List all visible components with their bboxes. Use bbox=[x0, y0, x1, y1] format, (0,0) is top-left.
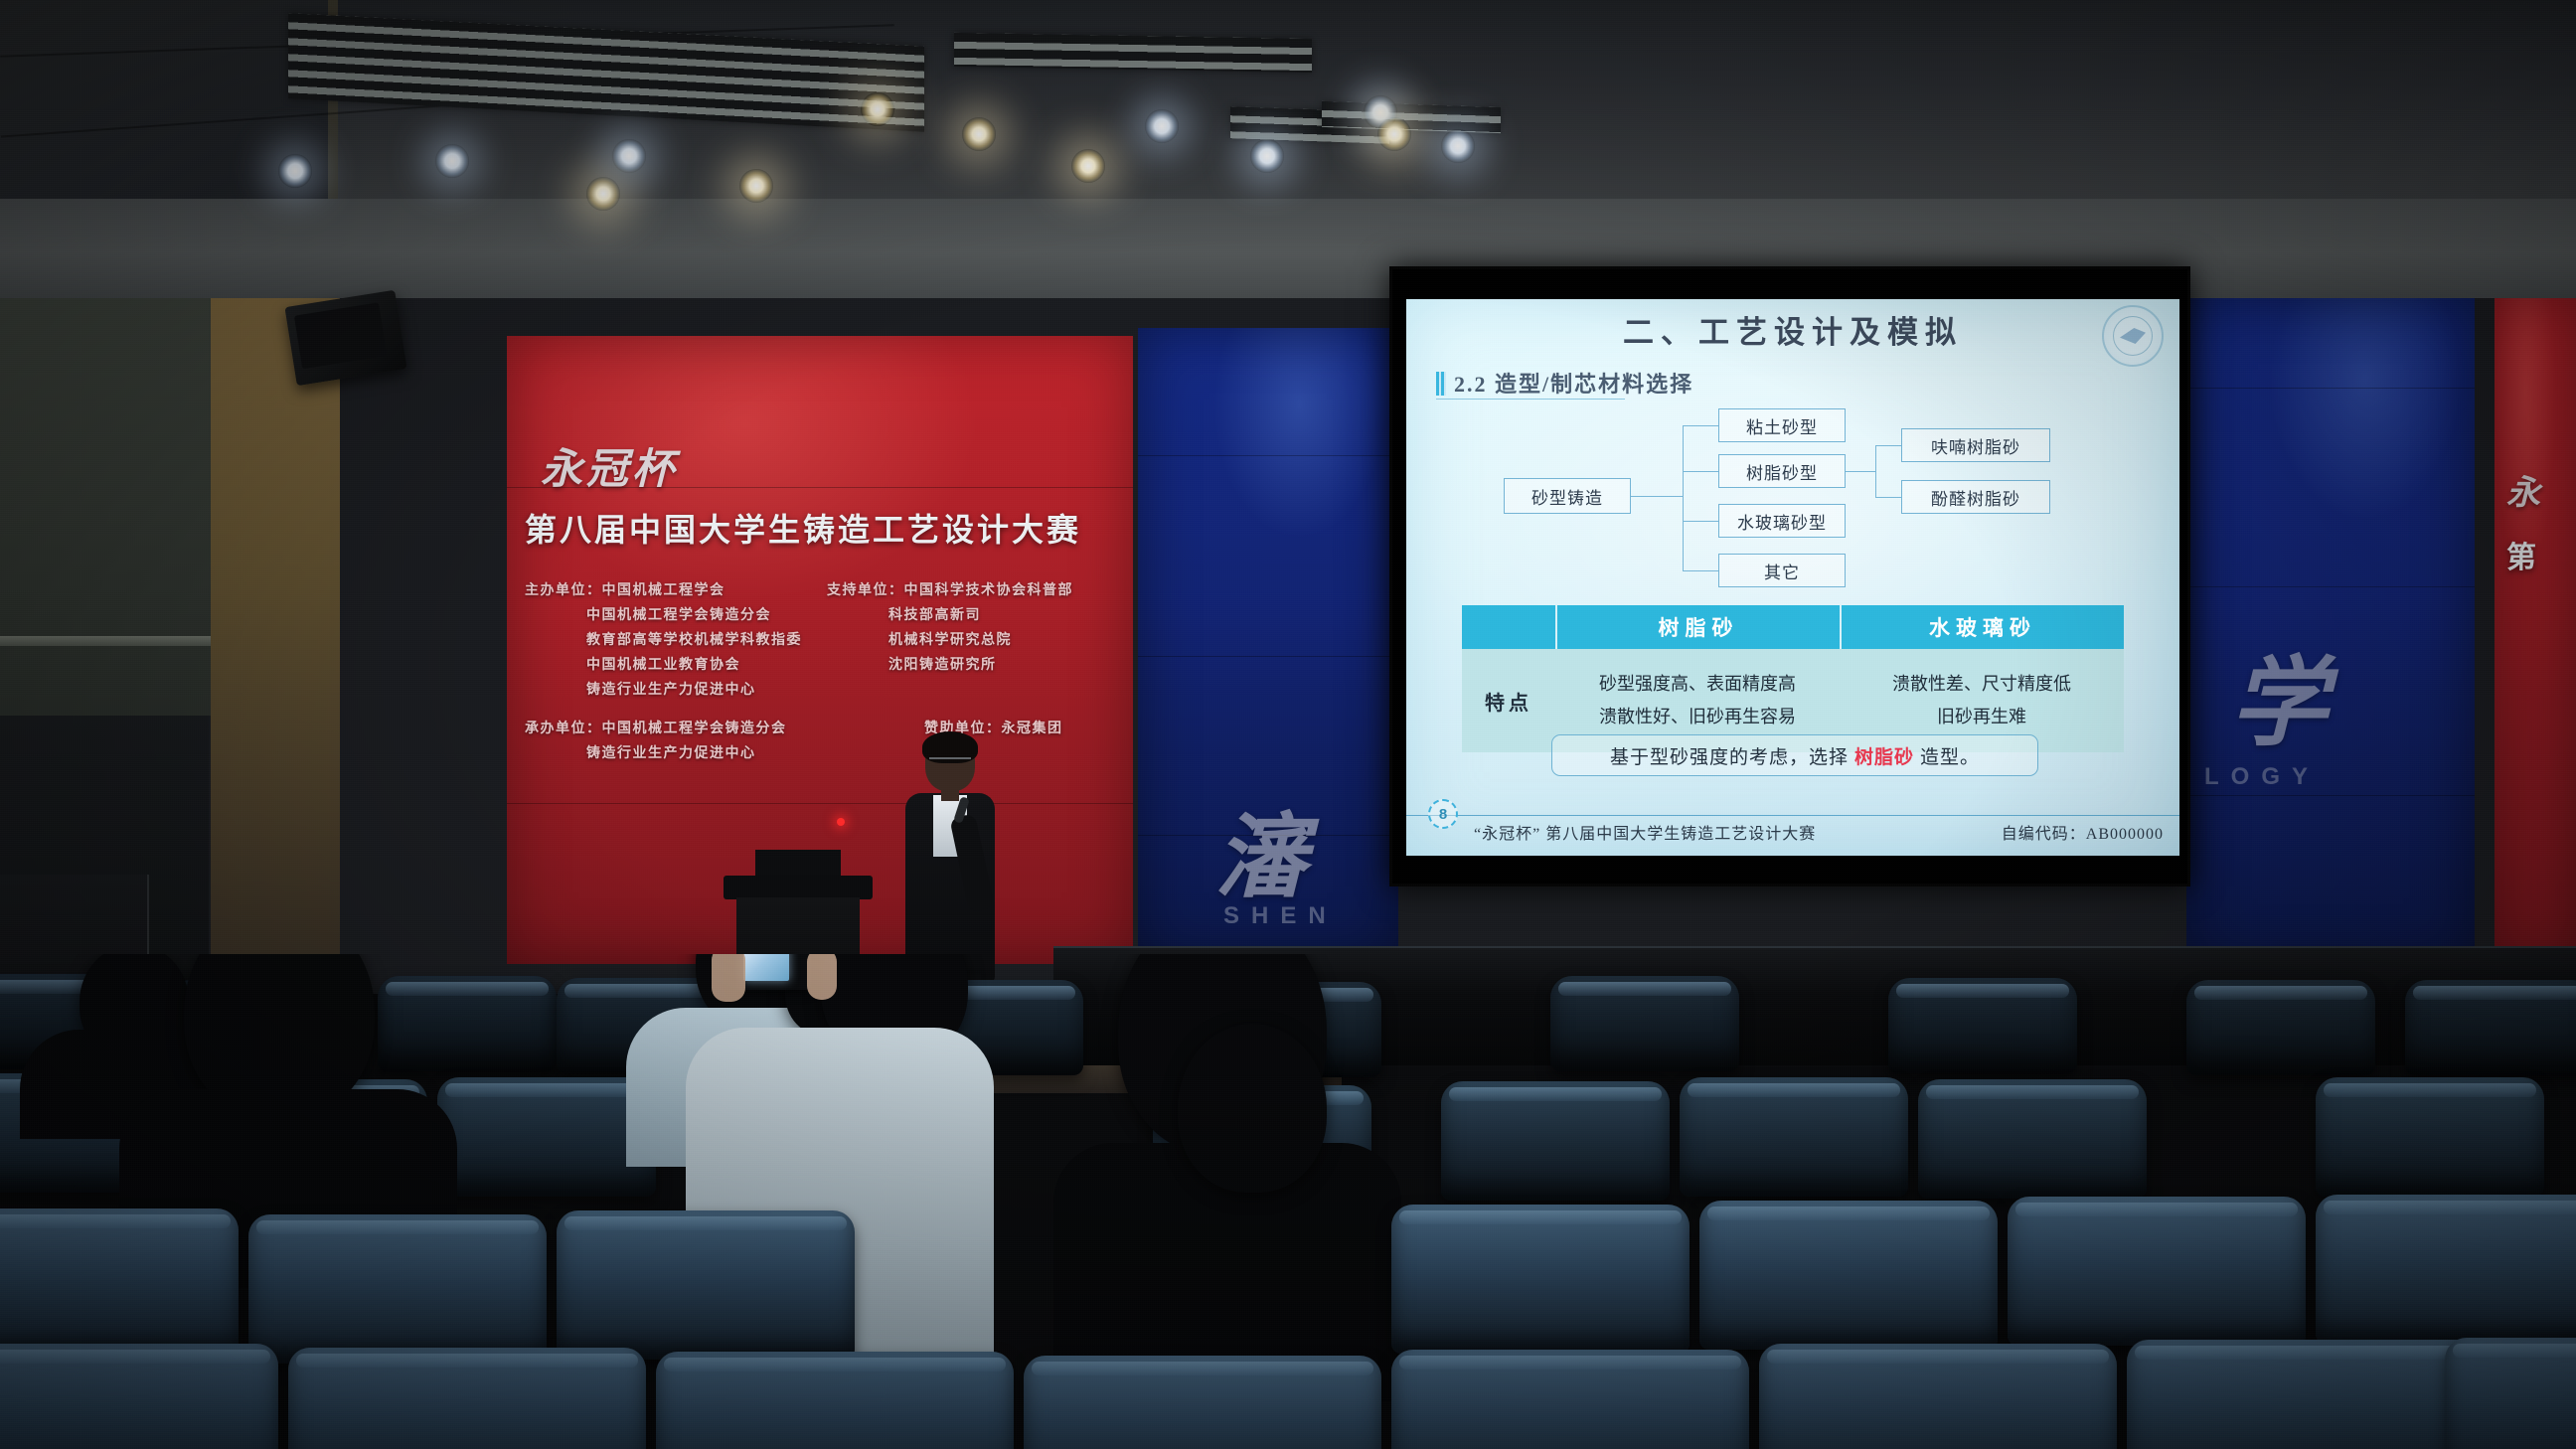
ceiling-light bbox=[1250, 139, 1284, 173]
lectern-top bbox=[724, 876, 873, 899]
host-bottom-line: 铸造行业生产力促进中心 bbox=[525, 742, 787, 762]
audience-head bbox=[1178, 1024, 1327, 1193]
ceiling-light bbox=[962, 117, 996, 151]
red-banner-right: 永 第 bbox=[2495, 298, 2576, 970]
ceiling-light bbox=[1377, 117, 1411, 151]
seat[interactable] bbox=[2405, 980, 2576, 1075]
organizer-left-line: 中国机械工业教育协会 bbox=[525, 654, 802, 674]
seat[interactable] bbox=[1550, 976, 1739, 1071]
glasses-icon bbox=[929, 757, 971, 764]
section-underline bbox=[1436, 399, 1625, 400]
ceiling-light bbox=[1145, 109, 1179, 143]
flowchart: 砂型铸造 粘土砂型 树脂砂型 水玻璃砂型 其它 呋喃树脂砂 酚醛树脂砂 bbox=[1448, 406, 2144, 593]
laser-pointer-dot bbox=[837, 818, 845, 826]
organizer-left-line: 主办单位：中国机械工程学会 bbox=[525, 579, 802, 599]
ceiling-light bbox=[739, 169, 773, 203]
blue-banner-left: 瀋 SHEN bbox=[1138, 328, 1398, 964]
flow-node-level1: 树脂砂型 bbox=[1718, 454, 1846, 488]
conclusion-highlight: 树脂砂 bbox=[1854, 742, 1914, 769]
seat[interactable] bbox=[1391, 1350, 1749, 1449]
banner-calligraphy: 永冠杯 bbox=[541, 435, 678, 496]
seat[interactable] bbox=[288, 1348, 646, 1449]
table-column-header: 水玻璃砂 bbox=[1840, 605, 2124, 649]
blue-banner-right: 学 LOGY bbox=[2186, 298, 2475, 970]
slide-footer-rule bbox=[1406, 815, 2179, 816]
organizer-right-line: 机械科学研究总院 bbox=[827, 629, 1073, 649]
blue-banner-calligraphy: 瀋 bbox=[1215, 783, 1307, 915]
seat[interactable] bbox=[2186, 980, 2375, 1075]
organizer-left-line: 教育部高等学校机械学科教指委 bbox=[525, 629, 802, 649]
camera-lcd-screen bbox=[743, 954, 789, 981]
seat[interactable] bbox=[0, 1344, 278, 1449]
slide-section-heading: 2.2 造型/制芯材料选择 bbox=[1436, 367, 1693, 399]
organizer-right-line: 科技部高新司 bbox=[827, 604, 1073, 624]
seat[interactable] bbox=[1024, 1356, 1381, 1449]
flow-line bbox=[1683, 471, 1718, 472]
flow-node-level1: 其它 bbox=[1718, 554, 1846, 587]
ceiling-light bbox=[612, 139, 646, 173]
flow-node-level1: 水玻璃砂型 bbox=[1718, 504, 1846, 538]
table-header-row: 树脂砂 水玻璃砂 bbox=[1462, 605, 2124, 649]
audience-camera[interactable] bbox=[735, 954, 811, 990]
ceiling-vent bbox=[954, 33, 1312, 73]
red-banner-right-title: 第 bbox=[2506, 533, 2539, 576]
blue-banner-latin: SHEN bbox=[1223, 902, 1338, 930]
slide-footer-code: 自编代码：AB000000 bbox=[2002, 820, 2164, 844]
flow-line bbox=[1875, 445, 1876, 497]
flow-line bbox=[1683, 521, 1718, 522]
flow-line bbox=[1683, 425, 1718, 426]
blue-banner-calligraphy: 学 bbox=[2230, 624, 2328, 765]
seat[interactable] bbox=[1391, 1205, 1690, 1354]
seat[interactable] bbox=[1888, 978, 2077, 1073]
organizer-right-column: 支持单位：中国科学技术协会科普部 科技部高新司 机械科学研究总院 沈阳铸造研究所 bbox=[827, 579, 1073, 679]
organizer-left-line: 中国机械工程学会铸造分会 bbox=[525, 604, 802, 624]
ceiling-light bbox=[1441, 129, 1475, 163]
slide-footer-center-text: “永冠杯” 第八届中国大学生铸造工艺设计大赛 bbox=[1474, 820, 1816, 844]
auditorium-photo: 永冠杯 第八届中国大学生铸造工艺设计大赛 主办单位：中国机械工程学会 中国机械工… bbox=[0, 0, 2576, 1449]
blue-banner-latin: LOGY bbox=[2204, 763, 2320, 791]
seat[interactable] bbox=[2316, 1195, 2576, 1344]
wall-wood-column bbox=[211, 298, 340, 994]
conclusion-prefix: 基于型砂强度的考虑，选择 bbox=[1610, 742, 1849, 769]
seat[interactable] bbox=[1441, 1081, 1670, 1201]
flow-node-root: 砂型铸造 bbox=[1504, 478, 1631, 514]
comparison-table: 树脂砂 水玻璃砂 特点 砂型强度高、表面精度高 溃散性好、旧砂再生容易 溃散性差… bbox=[1462, 605, 2124, 752]
seat[interactable] bbox=[2127, 1340, 2485, 1449]
ceiling-light bbox=[435, 144, 469, 178]
ceiling-light bbox=[278, 154, 312, 188]
section-bar-icon bbox=[1436, 372, 1446, 396]
ceiling-light bbox=[861, 92, 894, 126]
seat[interactable] bbox=[2316, 1077, 2544, 1197]
seat[interactable] bbox=[557, 1210, 855, 1360]
university-seal-icon bbox=[2102, 305, 2164, 367]
seat[interactable] bbox=[0, 1208, 239, 1358]
seat[interactable] bbox=[248, 1214, 547, 1364]
ceiling-light bbox=[1071, 149, 1105, 183]
flow-line bbox=[1631, 496, 1683, 497]
conclusion-suffix: 造型。 bbox=[1920, 742, 1980, 769]
slide-page-number: 8 bbox=[1428, 799, 1458, 829]
seat[interactable] bbox=[2445, 1338, 2576, 1449]
host-bottom-column: 承办单位：中国机械工程学会铸造分会 铸造行业生产力促进中心 bbox=[525, 718, 787, 767]
organizer-right-line: 支持单位：中国科学技术协会科普部 bbox=[827, 579, 1073, 599]
red-banner-right-calligraphy: 永 bbox=[2506, 465, 2544, 514]
projection-screen: 二、工艺设计及模拟 2.2 造型/制芯材料选择 砂型铸造 粘土砂型 树脂砂型 水… bbox=[1389, 266, 2190, 886]
table-row-label: 特点 bbox=[1462, 649, 1555, 752]
table-corner-cell bbox=[1462, 605, 1555, 649]
flow-node-level1: 粘土砂型 bbox=[1718, 408, 1846, 442]
seat[interactable] bbox=[1918, 1079, 2147, 1199]
seat[interactable] bbox=[437, 1077, 656, 1197]
seat[interactable] bbox=[1759, 1344, 2117, 1449]
organizer-left-line: 铸造行业生产力促进中心 bbox=[525, 679, 802, 699]
flow-line bbox=[1846, 471, 1875, 472]
wall-trim bbox=[0, 636, 211, 646]
ceiling-light bbox=[586, 177, 620, 211]
seat[interactable] bbox=[1699, 1201, 1998, 1350]
organizer-right-line: 沈阳铸造研究所 bbox=[827, 654, 1073, 674]
host-bottom-line: 承办单位：中国机械工程学会铸造分会 bbox=[525, 718, 787, 737]
flow-line bbox=[1683, 570, 1718, 571]
audience-area bbox=[0, 954, 2576, 1449]
conclusion-box: 基于型砂强度的考虑，选择 树脂砂 造型。 bbox=[1551, 734, 2038, 776]
audience-hand bbox=[712, 954, 745, 1002]
flow-line bbox=[1875, 497, 1901, 498]
organizer-left-column: 主办单位：中国机械工程学会 中国机械工程学会铸造分会 教育部高等学校机械学科教指… bbox=[525, 579, 802, 704]
flow-node-level2: 酚醛树脂砂 bbox=[1901, 480, 2050, 514]
flow-node-level2: 呋喃树脂砂 bbox=[1901, 428, 2050, 462]
audience-hand bbox=[807, 954, 837, 1000]
seat[interactable] bbox=[656, 1352, 1014, 1449]
banner-title: 第八届中国大学生铸造工艺设计大赛 bbox=[525, 505, 1081, 551]
seat[interactable] bbox=[2008, 1197, 2306, 1346]
wall-panel bbox=[0, 298, 211, 716]
seat[interactable] bbox=[378, 976, 557, 1071]
seat[interactable] bbox=[1680, 1077, 1908, 1197]
flow-line bbox=[1875, 445, 1901, 446]
flow-line bbox=[1683, 425, 1684, 570]
slide-title: 二、工艺设计及模拟 bbox=[1406, 307, 2179, 352]
table-column-header: 树脂砂 bbox=[1555, 605, 1840, 649]
presentation-slide: 二、工艺设计及模拟 2.2 造型/制芯材料选择 砂型铸造 粘土砂型 树脂砂型 水… bbox=[1406, 299, 2179, 856]
